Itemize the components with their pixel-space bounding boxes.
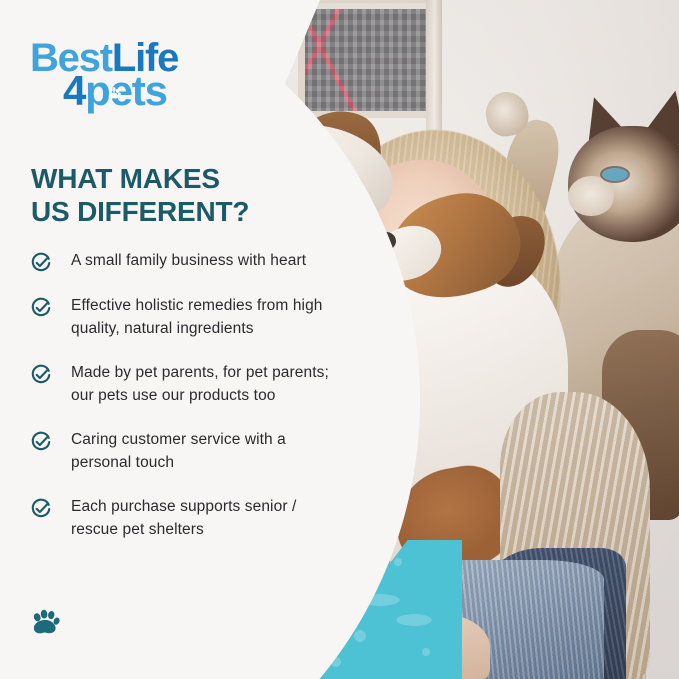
list-item-label: Effective holistic remedies from high qu… (71, 295, 346, 341)
brand-logo[interactable]: BestLife 4pets (30, 38, 250, 118)
list-item-label: Made by pet parents, for pet parents; ou… (71, 362, 346, 408)
list-item: Each purchase supports senior / rescue p… (30, 496, 350, 542)
logo-line-two: 4pets (63, 70, 167, 112)
page-title-line2: US DIFFERENT? (31, 195, 311, 228)
check-circle-icon (30, 498, 52, 520)
check-circle-icon (30, 431, 52, 453)
ad-banner: BestLife 4pets WHAT MAKES US DIFFERENT? (0, 0, 679, 679)
list-item: Made by pet parents, for pet parents; ou… (30, 362, 350, 408)
paw-icon (106, 86, 122, 101)
page-title-line1: WHAT MAKES (31, 162, 311, 195)
content-area: BestLife 4pets WHAT MAKES US DIFFERENT? (0, 0, 340, 679)
list-item: Caring customer service with a personal … (30, 429, 350, 475)
logo-word-four: 4 (63, 67, 85, 114)
shelf-post (426, 0, 442, 130)
cat-muzzle (568, 176, 614, 216)
page-title: WHAT MAKES US DIFFERENT? (31, 162, 311, 228)
check-circle-icon (30, 297, 52, 319)
paw-icon (29, 606, 63, 639)
benefits-list: A small family business with heart Effec… (30, 250, 350, 563)
check-circle-icon (30, 364, 52, 386)
list-item: A small family business with heart (30, 250, 350, 274)
check-circle-icon (30, 252, 52, 274)
list-item-label: Caring customer service with a personal … (71, 429, 346, 475)
cat-eye (602, 168, 628, 181)
list-item: Effective holistic remedies from high qu… (30, 295, 350, 341)
list-item-label: A small family business with heart (71, 250, 306, 273)
logo-word-pets: pets (85, 67, 167, 114)
list-item-label: Each purchase supports senior / rescue p… (71, 496, 346, 542)
